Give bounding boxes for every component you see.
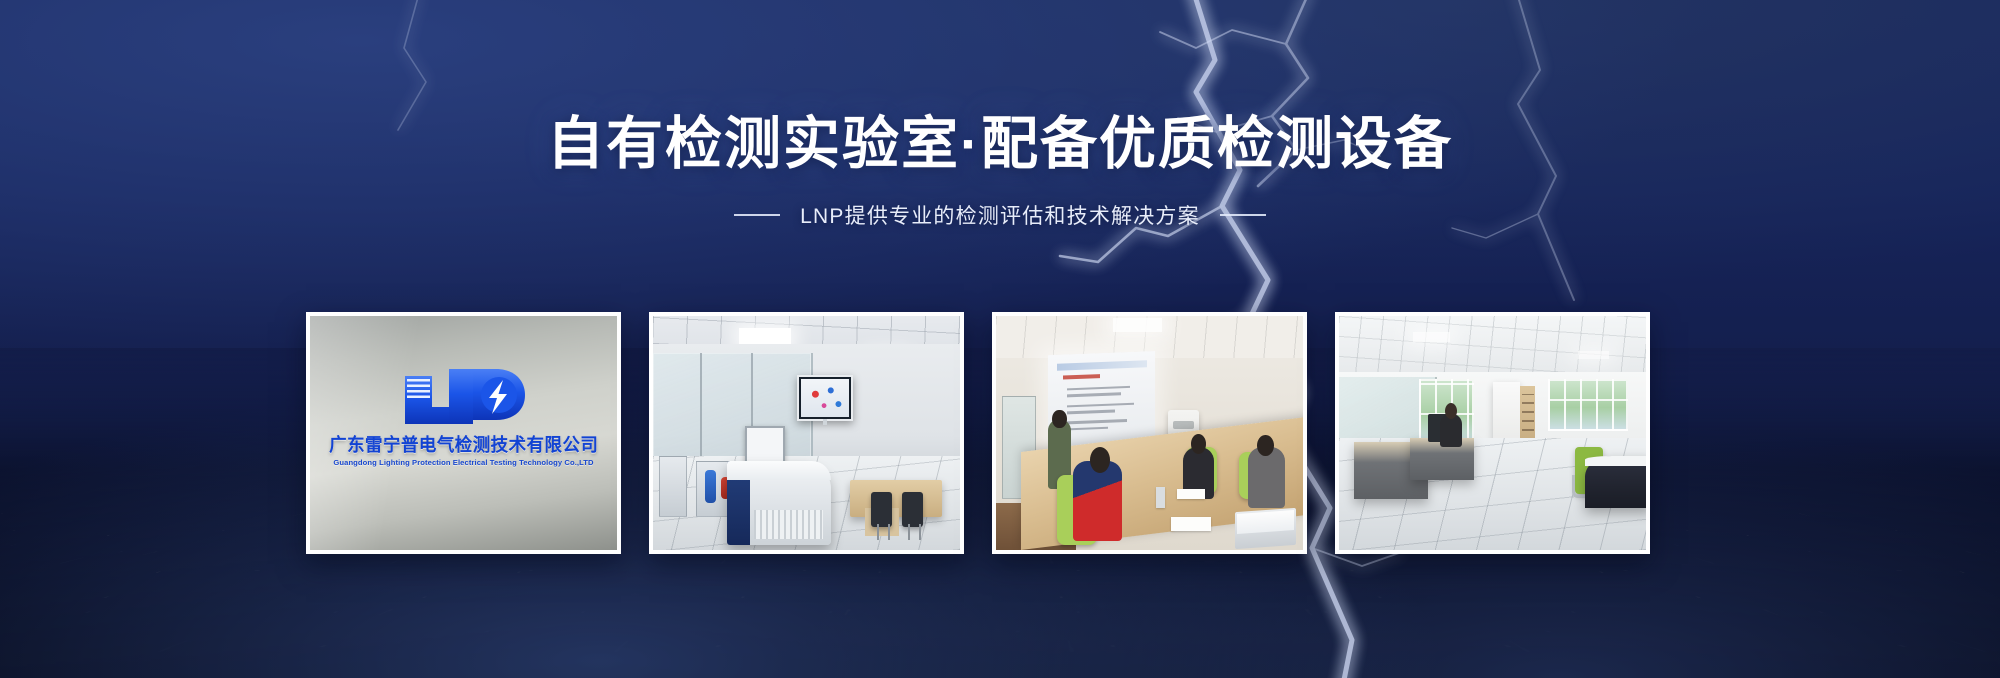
console-vent-grille — [754, 510, 823, 539]
window-grille-right — [1548, 379, 1628, 430]
company-name-cn: 广东雷宁普电气检测技术有限公司 — [329, 431, 598, 457]
page-subtitle: LNP提供专业的检测评估和技术解决方案 — [800, 200, 1200, 230]
photo-testing-laboratory — [653, 316, 960, 550]
document-on-table-1 — [1177, 489, 1205, 498]
page-title: 自有检测实验室·配备优质检测设备 — [0, 112, 2000, 178]
slide-title-line — [1063, 374, 1100, 380]
slide-header-bar — [1057, 361, 1147, 371]
office-ceiling-light-2 — [1578, 351, 1609, 359]
headline-block: 自有检测实验室·配备优质检测设备 LNP提供专业的检测评估和技术解决方案 — [0, 112, 2000, 230]
office-chair-2 — [902, 492, 923, 527]
laptop-on-table — [1235, 508, 1296, 550]
right-dash-decoration — [1220, 214, 1266, 216]
slide-text-line-1 — [1068, 386, 1130, 391]
attendee-middle-head — [1191, 434, 1206, 454]
console-monitor — [745, 426, 785, 466]
meeting-ceiling-light — [1113, 318, 1162, 332]
presenter-head — [1052, 410, 1066, 429]
gallery-card-office-reception-area[interactable] — [1335, 312, 1650, 554]
gallery-card-training-meeting-room[interactable] — [992, 312, 1307, 554]
slide-text-line-5 — [1068, 420, 1128, 425]
attendee-right-person — [1248, 447, 1285, 508]
lab-equipment-rack-1 — [659, 456, 687, 517]
lnp-logo-icon — [401, 367, 527, 425]
reception-counter — [1585, 456, 1646, 507]
office-chair-1 — [871, 492, 892, 527]
photo-gallery: 广东雷宁普电气检测技术有限公司 Guangdong Lighting Prote… — [306, 312, 1650, 554]
slide-text-line-6 — [1068, 427, 1109, 431]
wall-monitor — [797, 375, 852, 422]
slide-text-line-3 — [1068, 403, 1135, 408]
wall-monitor-mount — [823, 419, 827, 425]
slide-text-line-2 — [1068, 393, 1122, 397]
slide-text-line-4 — [1068, 410, 1115, 414]
glass-mullion-1 — [700, 353, 702, 470]
office-ceiling-grid — [1339, 316, 1646, 377]
subtitle-row: LNP提供专业的检测评估和技术解决方案 — [0, 200, 2000, 230]
photo-training-meeting-room — [996, 316, 1303, 550]
gallery-card-testing-laboratory[interactable] — [649, 312, 964, 554]
company-name-en: Guangdong Lighting Protection Electrical… — [333, 458, 593, 467]
thermos-cup — [1156, 487, 1165, 508]
attendee-front-person — [1073, 461, 1122, 541]
seated-worker — [1440, 414, 1461, 447]
document-on-table-2 — [1171, 517, 1211, 531]
control-console — [727, 461, 831, 545]
attendee-front-head — [1090, 447, 1110, 473]
office-window-right — [1548, 379, 1628, 430]
photo-office-reception-area — [1339, 316, 1646, 550]
photo-company-logo-wall: 广东雷宁普电气检测技术有限公司 Guangdong Lighting Prote… — [310, 316, 617, 550]
wall-monitor-screen — [801, 379, 848, 418]
lab-blue-cylinder — [705, 470, 716, 503]
console-worktop — [727, 461, 831, 480]
lab-glass-partition — [653, 353, 813, 470]
office-ceiling-light-1 — [1413, 332, 1450, 341]
hero-banner: 自有检测实验室·配备优质检测设备 LNP提供专业的检测评估和技术解决方案 — [0, 0, 2000, 678]
lightning-bolt-faint-left — [398, 0, 426, 130]
company-logo-block: 广东雷宁普电气检测技术有限公司 Guangdong Lighting Prote… — [310, 367, 617, 467]
seated-worker-head — [1445, 403, 1457, 419]
attendee-right-head — [1257, 435, 1274, 456]
gallery-card-company-logo-wall[interactable]: 广东雷宁普电气检测技术有限公司 Guangdong Lighting Prote… — [306, 312, 621, 554]
left-dash-decoration — [734, 214, 780, 216]
